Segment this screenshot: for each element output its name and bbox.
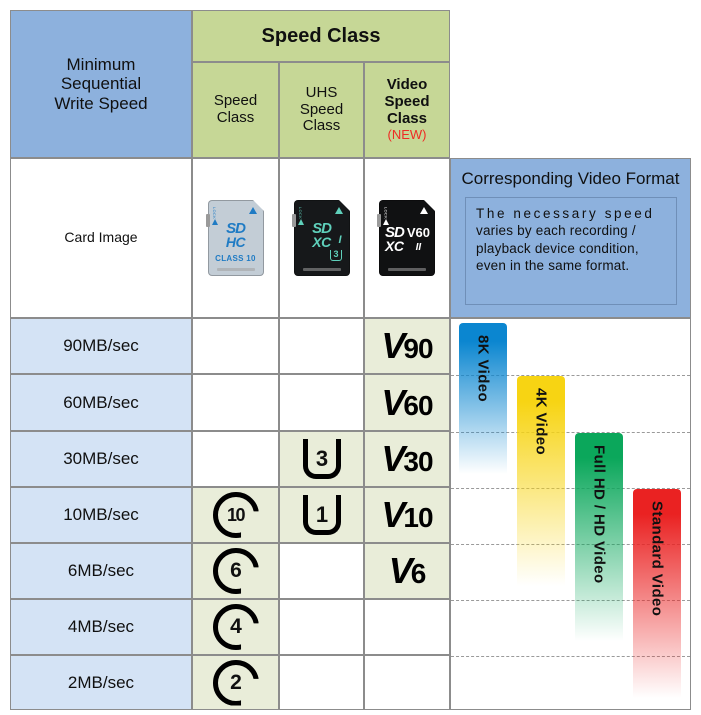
text-line: Speed: [214, 92, 257, 109]
video-speed-class-cell: V60: [364, 374, 450, 431]
video-v-letter: V: [381, 497, 403, 533]
sd-direction-arrow: [420, 207, 428, 214]
video-speed-class-symbol-V10: V10: [381, 497, 432, 533]
chart-bar-standard-video: Standard Video: [633, 489, 681, 698]
video-speed-class-cell: V6: [364, 543, 450, 599]
speed-class-cell: 2: [192, 655, 279, 710]
class-number: 6: [230, 559, 241, 583]
sd-class-label: CLASS 10: [208, 255, 264, 264]
chart-bar-8k-video: 8K Video: [459, 323, 507, 474]
chart-bar-full-hd-hd-video: Full HD / HD Video: [575, 433, 623, 641]
card-image-cell: LOCKSDHCCLASS 10: [192, 158, 279, 318]
row-label-4MB/sec: 4MB/sec: [10, 599, 192, 655]
uhs-speed-class-cell: 3: [279, 431, 364, 487]
class-number: 2: [230, 671, 241, 695]
video-number: 10: [403, 504, 432, 532]
video-format-title: Corresponding Video Format: [451, 169, 690, 189]
text-line: Video: [387, 76, 428, 93]
sdhc-class10-card: LOCKSDHCCLASS 10: [208, 200, 264, 276]
sd-contacts: [388, 268, 426, 271]
video-format-chart: 8K Video4K VideoFull HD / HD VideoStanda…: [450, 318, 691, 710]
row-label-2MB/sec: 2MB/sec: [10, 655, 192, 710]
text-line: Sequential: [61, 74, 141, 93]
chart-bar-label: 8K Video: [475, 335, 492, 402]
sd-contacts: [217, 268, 255, 271]
sd-direction-arrow: [335, 207, 343, 214]
card-image-cell: LOCKV60IISDXC: [364, 158, 450, 318]
text-line: Class: [303, 117, 341, 134]
text-line: Minimum: [67, 55, 136, 74]
uhs-number: 1: [316, 503, 327, 528]
speed-class-comparison-table: MinimumSequentialWrite SpeedSpeed ClassS…: [0, 0, 701, 715]
sd-brand-logo: SDXC: [379, 226, 435, 252]
speed-class-cell: 4: [192, 599, 279, 655]
text-line: Class: [217, 109, 255, 126]
text-line: Class: [387, 110, 427, 127]
text-line: Speed: [384, 93, 429, 110]
video-speed-class-cell: [364, 599, 450, 655]
video-speed-class-symbol-V6: V6: [389, 553, 426, 589]
video-speed-class-cell: V90: [364, 318, 450, 374]
video-speed-class-cell: [364, 655, 450, 710]
sd-contacts: [303, 268, 341, 271]
speed-class-cell: [192, 374, 279, 431]
video-number: 30: [403, 448, 432, 476]
video-speed-class-cell: V30: [364, 431, 450, 487]
video-number: 6: [411, 560, 426, 588]
row-label-60MB/sec: 60MB/sec: [10, 374, 192, 431]
col-header-uhs-speed-class: UHSSpeedClass: [279, 62, 364, 158]
uhs-speed-class-cell: [279, 374, 364, 431]
text-line: Speed: [300, 101, 343, 118]
row-label-10MB/sec: 10MB/sec: [10, 487, 192, 543]
sd-lock-label: LOCK: [298, 207, 302, 219]
note-line: varies by each recording /: [476, 223, 636, 238]
sd-lock-label: LOCK: [212, 207, 216, 219]
video-speed-class-cell: V10: [364, 487, 450, 543]
col-header-speed-class: SpeedClass: [192, 62, 279, 158]
sd-brand-logo: SDHC: [208, 222, 264, 248]
col-header-video-speed-class: VideoSpeedClass(NEW): [364, 62, 450, 158]
col-header-video-speed-class-text: VideoSpeedClass: [384, 77, 429, 127]
speed-class-cell: [192, 318, 279, 374]
new-badge: (NEW): [388, 128, 427, 143]
row-label-header-text: MinimumSequentialWrite Speed: [54, 55, 147, 112]
video-speed-class-symbol-V90: V90: [381, 328, 432, 364]
video-v-letter: V: [389, 553, 411, 589]
chart-bar-label: 4K Video: [533, 388, 550, 455]
uhs-speed-class-cell: [279, 318, 364, 374]
video-number: 60: [403, 392, 432, 420]
uhs-speed-class-cell: [279, 599, 364, 655]
speed-class-symbol-4: 4: [213, 604, 259, 650]
uhs-speed-class-symbol-1: 1: [300, 495, 344, 535]
video-v-letter: V: [381, 385, 403, 421]
row-label-header: MinimumSequentialWrite Speed: [10, 10, 192, 158]
row-label-6MB/sec: 6MB/sec: [10, 543, 192, 599]
speed-class-cell: 6: [192, 543, 279, 599]
text-line: Write Speed: [54, 94, 147, 113]
sd-direction-arrow: [249, 207, 257, 214]
video-v-letter: V: [381, 441, 403, 477]
card-image-cell: LOCKISDXC3: [279, 158, 364, 318]
speed-class-symbol-10: 10: [213, 492, 259, 538]
chart-bar-label: Full HD / HD Video: [591, 445, 608, 584]
uhs-speed-class-cell: [279, 543, 364, 599]
row-label-90MB/sec: 90MB/sec: [10, 318, 192, 374]
uhs-speed-class-cell: 1: [279, 487, 364, 543]
note-line: The necessary speed: [476, 206, 654, 221]
speed-class-symbol-2: 2: [213, 660, 259, 706]
sd-lock-label: LOCK: [383, 207, 387, 219]
sd-brand-logo: SDXC: [294, 222, 350, 248]
chart-bar-4k-video: 4K Video: [517, 376, 565, 586]
text-line: UHS: [306, 84, 338, 101]
class-number: 4: [230, 615, 241, 639]
sdxc-v60-uhs2-card: LOCKV60IISDXC: [379, 200, 435, 276]
uhs-speed-class-cell: [279, 655, 364, 710]
sd-u3-badge: 3: [330, 250, 341, 261]
speed-class-symbol-6: 6: [213, 548, 259, 594]
video-speed-class-symbol-V60: V60: [381, 385, 432, 421]
uhs-speed-class-symbol-3: 3: [300, 439, 344, 479]
note-line: playback device condition,: [476, 241, 639, 256]
sdxc-uhs1-u3-card: LOCKISDXC3: [294, 200, 350, 276]
note-line: even in the same format.: [476, 258, 629, 273]
col-header-uhs-speed-class-text: UHSSpeedClass: [300, 85, 343, 135]
speed-class-cell: 10: [192, 487, 279, 543]
video-format-panel: Corresponding Video FormatThe necessary …: [450, 158, 691, 318]
video-speed-class-symbol-V30: V30: [381, 441, 432, 477]
row-label-30MB/sec: 30MB/sec: [10, 431, 192, 487]
card-image-row-label: Card Image: [10, 158, 192, 318]
speed-class-cell: [192, 431, 279, 487]
uhs-number: 3: [316, 447, 327, 472]
video-number: 90: [403, 335, 432, 363]
chart-bar-label: Standard Video: [649, 501, 666, 616]
video-v-letter: V: [381, 328, 403, 364]
class-number: 10: [227, 505, 244, 525]
col-header-speed-class-text: SpeedClass: [214, 93, 257, 127]
video-format-note: The necessary speedvaries by each record…: [465, 197, 677, 305]
speed-class-title: Speed Class: [192, 10, 450, 62]
